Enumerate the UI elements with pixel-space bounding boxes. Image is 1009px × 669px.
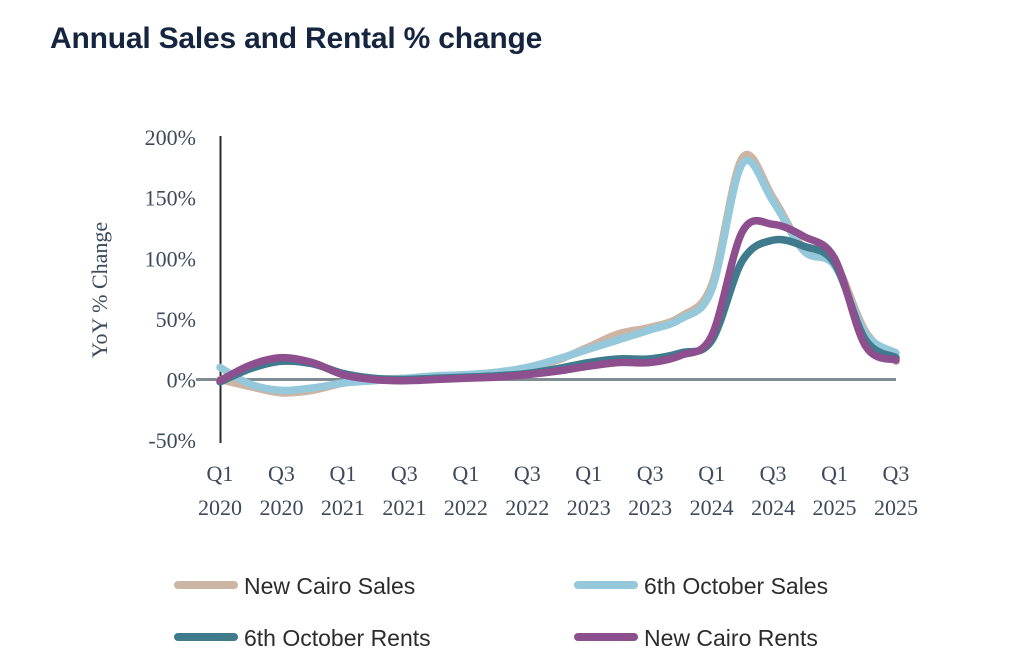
y-tick-label: 100% — [145, 246, 196, 271]
y-tick-labels: 200%150%100%50%0%-50% — [145, 125, 196, 453]
y-axis-title: YoY % Change — [87, 222, 112, 358]
x-tick-quarter: Q1 — [575, 461, 602, 486]
legend-label: 6th October Rents — [244, 625, 431, 651]
series-line — [220, 160, 896, 390]
x-tick-quarter: Q1 — [329, 461, 356, 486]
x-tick-quarter: Q1 — [207, 461, 234, 486]
x-tick-year: 2021 — [382, 495, 426, 520]
x-tick-year: 2024 — [690, 495, 734, 520]
legend-label: New Cairo Sales — [244, 573, 415, 599]
x-tick-quarter: Q1 — [698, 461, 725, 486]
y-tick-label: 50% — [156, 307, 196, 332]
x-tick-quarter: Q1 — [452, 461, 479, 486]
y-tick-label: 200% — [145, 125, 196, 150]
line-chart-plot: YoY % Change 200%150%100%50%0%-50% Q1202… — [0, 0, 1009, 669]
x-tick-year: 2021 — [321, 495, 365, 520]
x-tick-quarter: Q3 — [637, 461, 664, 486]
x-tick-quarter: Q1 — [821, 461, 848, 486]
x-tick-quarter: Q3 — [391, 461, 418, 486]
x-tick-year: 2022 — [444, 495, 488, 520]
legend-label: New Cairo Rents — [644, 625, 818, 651]
x-tick-year: 2022 — [505, 495, 549, 520]
chart-legend: New Cairo Sales6th October Sales6th Octo… — [178, 573, 828, 651]
y-tick-label: 150% — [145, 186, 196, 211]
legend-label: 6th October Sales — [644, 573, 828, 599]
x-tick-quarter: Q3 — [514, 461, 541, 486]
x-tick-quarter: Q3 — [760, 461, 787, 486]
y-tick-label: -50% — [148, 428, 196, 453]
x-tick-year: 2025 — [813, 495, 857, 520]
x-tick-year: 2024 — [751, 495, 795, 520]
chart-card: Annual Sales and Rental % change YoY % C… — [0, 0, 1009, 669]
x-tick-labels: Q12020Q32020Q12021Q32021Q12022Q32022Q120… — [198, 461, 918, 520]
x-tick-year: 2020 — [259, 495, 303, 520]
x-tick-year: 2025 — [874, 495, 918, 520]
x-tick-year: 2020 — [198, 495, 242, 520]
y-axis-label: YoY % Change — [87, 222, 112, 358]
x-tick-year: 2023 — [567, 495, 611, 520]
series-lines — [220, 155, 896, 393]
y-tick-label: 0% — [167, 368, 196, 393]
x-tick-quarter: Q3 — [883, 461, 910, 486]
x-tick-quarter: Q3 — [268, 461, 295, 486]
x-tick-year: 2023 — [628, 495, 672, 520]
